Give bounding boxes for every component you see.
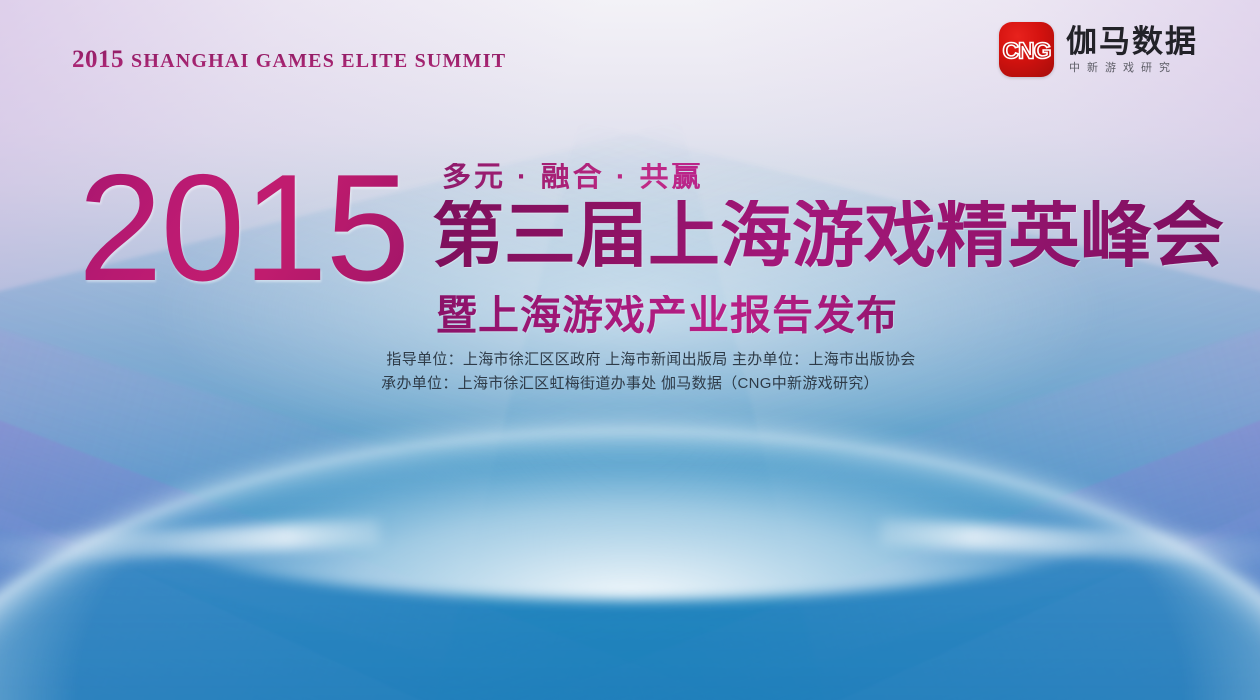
cng-logo-brand-sub: 中新游戏研究 bbox=[1066, 63, 1198, 74]
cng-logo: CNG 伽马数据 中新游戏研究 bbox=[999, 22, 1198, 77]
event-tagline: 多元 · 融合 · 共赢 bbox=[442, 163, 704, 192]
big-year-2015: 2015 bbox=[78, 152, 408, 304]
organizer-credits: 指导单位：上海市徐汇区区政府 上海市新闻出版局 主办单位：上海市出版协会 承办单… bbox=[0, 348, 1260, 396]
top-left-english: SHANGHAI GAMES ELITE SUMMIT bbox=[131, 50, 506, 72]
credit-line-2: 承办单位：上海市徐汇区虹梅街道办事处 伽马数据（CNG中新游戏研究） bbox=[0, 372, 1260, 396]
cng-logo-brand-cn: 伽马数据 bbox=[1066, 26, 1198, 57]
poster-canvas: 2015SHANGHAI GAMES ELITE SUMMIT CNG 伽马数据… bbox=[0, 0, 1260, 700]
cng-logo-letters: CNG bbox=[1002, 37, 1050, 64]
credit-line-1: 指导单位：上海市徐汇区区政府 上海市新闻出版局 主办单位：上海市出版协会 bbox=[0, 348, 1260, 372]
event-headline: 第三届上海游戏精英峰会 bbox=[432, 200, 1224, 272]
cng-logo-mark-icon: CNG bbox=[999, 22, 1054, 77]
top-left-summit-line: 2015SHANGHAI GAMES ELITE SUMMIT bbox=[72, 46, 506, 74]
event-subheadline: 暨上海游戏产业报告发布 bbox=[436, 295, 898, 336]
top-left-year: 2015 bbox=[72, 46, 124, 73]
cng-logo-wordmark: 伽马数据 中新游戏研究 bbox=[1066, 26, 1198, 74]
